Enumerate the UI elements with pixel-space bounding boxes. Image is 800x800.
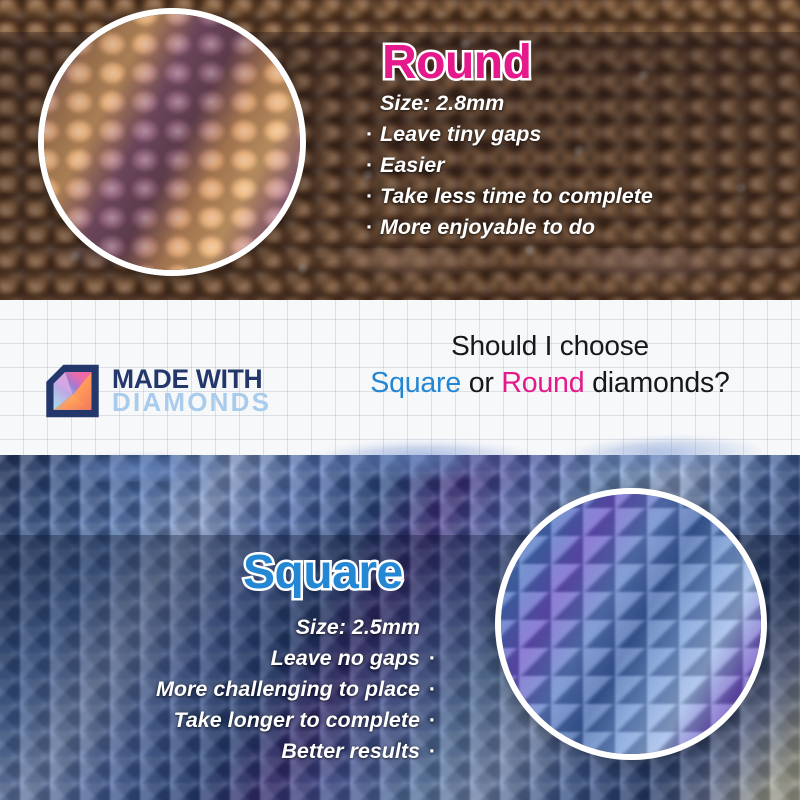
round-closeup-photo [38, 8, 306, 276]
bullet-icon: · [366, 119, 380, 150]
feature-text: More challenging to place [156, 674, 420, 705]
square-feature-list: Size: 2.5mm Leave no gaps · More challen… [156, 612, 436, 767]
bullet-icon: · [366, 150, 380, 181]
bullet-icon: · [420, 736, 436, 767]
round-diamond-closeup-circle [38, 8, 306, 276]
feature-text: Take longer to complete [173, 705, 420, 736]
feature-text: Take less time to complete [380, 181, 653, 212]
list-item: Leave no gaps · [271, 643, 436, 674]
feature-text: Leave no gaps [271, 643, 420, 674]
feature-text: Size: 2.8mm [380, 88, 504, 119]
bullet-icon: · [420, 643, 436, 674]
list-item: Take longer to complete · [173, 705, 436, 736]
list-item: More challenging to place · [156, 674, 436, 705]
square-diamond-closeup-circle [495, 488, 767, 760]
logo-secondary-text: DIAMONDS [112, 391, 271, 415]
bullet-icon: · [420, 674, 436, 705]
bullet-icon: · [366, 181, 380, 212]
square-closeup-photo [495, 488, 767, 760]
list-item: Size: 2.5mm [296, 612, 436, 643]
keyword-square: Square [370, 367, 461, 399]
list-item: Better results · [281, 736, 436, 767]
square-section-title: Square [243, 549, 403, 597]
feature-text: Better results [281, 736, 420, 767]
question-suffix: diamonds? [584, 367, 729, 399]
feature-text: Easier [380, 150, 445, 181]
headline-question: Should I choose Square or Round diamonds… [330, 330, 770, 400]
feature-text: Leave tiny gaps [380, 119, 541, 150]
question-line-2: Square or Round diamonds? [330, 367, 770, 400]
question-conjunction: or [461, 367, 501, 399]
list-item: · Take less time to complete [366, 181, 653, 212]
bullet-icon: · [366, 212, 380, 243]
keyword-round: Round [501, 367, 584, 399]
feature-text: More enjoyable to do [380, 212, 595, 243]
list-item: · Easier [366, 150, 653, 181]
list-item: · Leave tiny gaps [366, 119, 653, 150]
diamond-gem-logo-icon [44, 362, 101, 420]
list-item: Size: 2.8mm [366, 88, 653, 119]
question-line-1: Should I choose [330, 330, 770, 362]
brand-logo: MADE WITH DIAMONDS [44, 362, 271, 420]
round-feature-list: Size: 2.8mm · Leave tiny gaps · Easier ·… [366, 88, 653, 243]
infographic-canvas: Round Size: 2.8mm · Leave tiny gaps · Ea… [0, 0, 800, 800]
list-item: · More enjoyable to do [366, 212, 653, 243]
bullet-icon: · [420, 705, 436, 736]
round-section-title: Round [382, 39, 531, 87]
feature-text: Size: 2.5mm [296, 612, 420, 643]
